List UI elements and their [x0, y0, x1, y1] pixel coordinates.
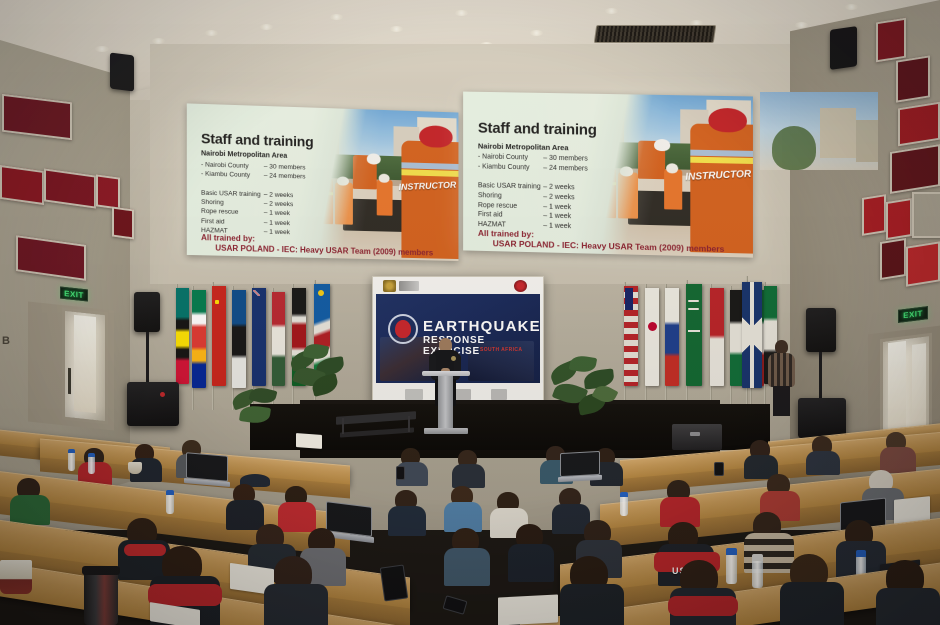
banner-footer-logo-icon	[491, 389, 507, 400]
laptop-screen[interactable]	[560, 451, 600, 477]
ceiling-air-vent	[594, 25, 717, 43]
smartphone[interactable]	[380, 564, 408, 601]
acoustic-panel	[886, 198, 912, 240]
south-africa-crest-icon	[383, 280, 396, 292]
water-bottle[interactable]	[166, 494, 174, 514]
exit-sign-right-label: EXIT	[903, 309, 923, 320]
slide-footer-right: All trained by:	[478, 228, 534, 239]
subwoofer-right	[798, 398, 846, 438]
flag-russia	[665, 288, 679, 386]
potted-plant-left	[286, 342, 350, 400]
attendee-body	[876, 588, 940, 625]
acoustic-panel	[906, 241, 940, 286]
ceiling-downlight	[260, 24, 273, 30]
earthquake-logo-icon	[388, 314, 418, 344]
wall-speaker	[830, 26, 857, 70]
stage-equipment-leg	[342, 418, 344, 434]
attendee-body	[880, 447, 916, 473]
acoustic-panel	[896, 55, 930, 102]
ceiling-downlight	[205, 30, 218, 36]
document-sheet[interactable]	[498, 594, 558, 625]
attendee-body	[560, 584, 624, 625]
attendee-scarf	[124, 544, 166, 556]
attendee-body	[10, 495, 50, 525]
ceiling-downlight	[455, 10, 468, 16]
slide-area-rows-left: - Nairobi County – 30 members - Kiambu C…	[201, 160, 332, 182]
acoustic-panel	[898, 102, 940, 147]
subwoofer-led-icon	[160, 392, 165, 397]
attendee-body	[806, 451, 840, 475]
smartphone[interactable]	[396, 466, 405, 480]
flag-saudi-script	[688, 300, 699, 302]
water-bottle[interactable]	[88, 456, 95, 474]
ndmc-logo-icon	[514, 280, 527, 292]
window-tree	[772, 126, 816, 170]
standing-attendee-right	[766, 340, 796, 416]
ceiling-downlight	[330, 14, 343, 20]
bottle-cap	[620, 492, 628, 497]
water-bottle[interactable]	[68, 452, 75, 471]
acoustic-panel	[912, 192, 940, 238]
acoustic-panel	[876, 18, 906, 63]
slide-training-rows-left: Basic USAR training – 2 weeks Shoring – …	[201, 189, 332, 239]
attendee-body	[452, 464, 485, 488]
attendee-body	[226, 500, 264, 530]
ceiling-downlight	[845, 4, 858, 10]
ceiling-downlight	[530, 30, 543, 36]
projection-screen-right: INSTRUCTOR Staff and training Nairobi Me…	[463, 92, 753, 258]
acoustic-panel	[880, 238, 906, 280]
attendee-torso	[768, 353, 795, 387]
lectern-base	[424, 428, 468, 434]
attendee-body	[444, 548, 490, 586]
flag-estonia	[232, 290, 246, 388]
paper-cup[interactable]	[128, 462, 142, 474]
pa-speaker-right	[806, 308, 836, 352]
slide-title-right: Staff and training	[478, 120, 597, 139]
exit-sign-left-label: EXIT	[64, 288, 84, 299]
lectern-column	[438, 376, 453, 428]
window-building	[820, 108, 856, 158]
banner-title: EARTHQUAKE	[423, 318, 540, 335]
projection-screen-left: INSTRUCTOR Staff and training Nairobi Me…	[187, 103, 459, 261]
flag-mozambique	[176, 288, 189, 384]
door-handle-icon	[68, 368, 71, 394]
flag-indonesia	[710, 288, 724, 386]
flag-australia-union-jack	[253, 290, 260, 296]
partner-logo-icon	[399, 281, 419, 291]
attendee-head	[775, 340, 788, 354]
flag-malaysia-canton	[625, 288, 633, 310]
potted-plant-right	[548, 356, 618, 418]
bottle-cap	[68, 449, 75, 453]
attendee-body	[780, 582, 844, 625]
slide-subtitle-right: Nairobi Metropolitan Area	[478, 141, 569, 152]
attendee-body	[508, 544, 554, 582]
acoustic-panel	[890, 144, 940, 194]
stage-equipment-leg	[408, 416, 410, 432]
stage-case-latch-icon	[690, 432, 700, 436]
left-door-light	[74, 315, 96, 413]
acoustic-panel	[112, 206, 134, 239]
bottle-cap	[856, 550, 866, 557]
laptop-screen[interactable]	[186, 452, 228, 482]
paper-cup-foreground[interactable]	[0, 560, 32, 594]
attendee-body	[388, 506, 426, 536]
bottle-cap	[166, 490, 174, 495]
attendee-legs	[773, 386, 790, 416]
flag-china-star	[215, 300, 219, 304]
flag-united-kingdom	[742, 282, 762, 388]
banner-footer-logo-icon	[405, 389, 423, 400]
slide-area-rows-right: - Nairobi County – 30 members - Kiambu C…	[478, 152, 617, 174]
bottle-cap	[88, 453, 95, 457]
ceiling-downlight	[795, 22, 808, 28]
slide-footer-left: All trained by:	[201, 233, 255, 243]
bottle-cap	[752, 554, 763, 561]
smartphone[interactable]	[442, 595, 467, 615]
water-bottle[interactable]	[752, 560, 763, 588]
flag-australia	[252, 288, 266, 386]
window-building	[856, 120, 878, 162]
wall-speaker	[110, 53, 134, 92]
banner-tagline: SOUTH AFRICA	[480, 347, 522, 353]
document-sheet[interactable]	[296, 433, 322, 449]
travel-mug-lid	[82, 566, 120, 575]
conference-hall-photo: EXIT EXIT B	[0, 0, 940, 625]
bottle-cap	[726, 548, 737, 555]
wall-room-marker: B	[2, 335, 10, 347]
attendee-body	[264, 584, 328, 625]
slide-title-left: Staff and training	[201, 130, 313, 150]
water-bottle[interactable]	[726, 554, 737, 584]
travel-mug[interactable]	[84, 570, 118, 625]
ceiling-downlight	[390, 26, 403, 32]
subwoofer-left	[127, 382, 179, 426]
ceiling-downlight	[605, 8, 618, 14]
flag-japan	[645, 288, 659, 386]
acoustic-panel	[0, 165, 44, 205]
smartphone[interactable]	[714, 462, 724, 476]
attendee-body	[278, 502, 316, 532]
flag-saudi-sword	[688, 330, 700, 332]
stage-case	[672, 424, 722, 450]
ceiling-downlight	[95, 46, 109, 52]
attendee-red-scarf	[668, 596, 738, 616]
acoustic-panel	[96, 174, 120, 209]
water-bottle[interactable]	[620, 496, 628, 516]
flag-south-africa	[192, 290, 206, 388]
acoustic-panel	[862, 194, 886, 236]
pa-speaker-left	[134, 292, 160, 332]
flag-saudi-script	[688, 308, 699, 310]
potted-plant-far-left	[230, 386, 286, 432]
flag-hungary	[272, 292, 285, 386]
flag-japan-sun	[648, 322, 657, 331]
flag-namibia-sun	[318, 290, 324, 296]
slide-training-rows-right: Basic USAR training – 2 weeks Shoring – …	[478, 181, 617, 233]
presenter-logo-icon	[451, 356, 456, 361]
